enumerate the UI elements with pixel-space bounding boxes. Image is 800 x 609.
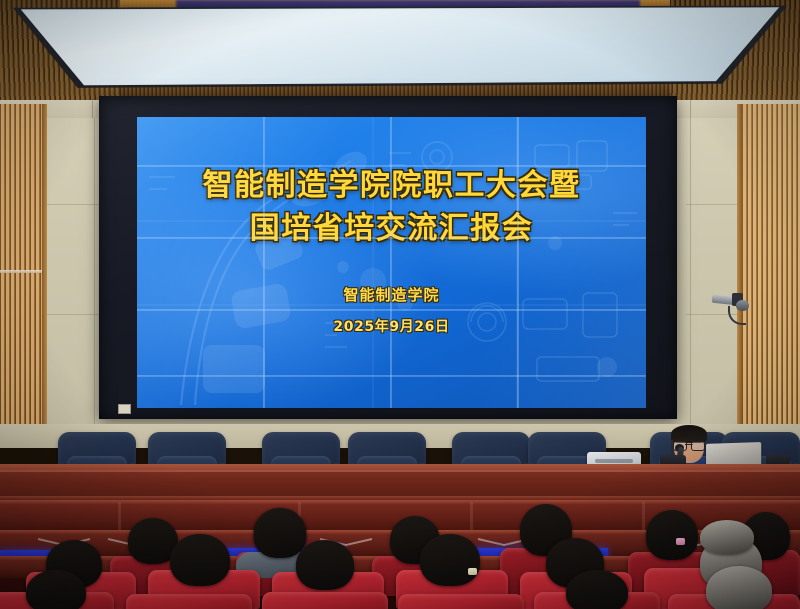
wall-camera-icon [712,290,748,324]
video-wall-display[interactable]: 智能制造学院院职工大会暨 国培省培交流汇报会 智能制造学院 2025年9月26日 [137,117,646,408]
ceiling-light-panel [0,0,800,104]
audience-head [170,534,230,586]
audience-seat[interactable] [262,592,388,609]
audience-head [706,566,772,609]
camera-cable [728,306,746,325]
wood-trim-right [737,104,742,434]
audience-seat[interactable] [398,594,524,609]
audience-head [700,520,754,554]
wall-rail-left [0,270,42,273]
screenshot-root: 智能制造学院院职工大会暨 国培省培交流汇报会 智能制造学院 2025年9月26日 [0,0,800,609]
slide-content: 智能制造学院院职工大会暨 国培省培交流汇报会 智能制造学院 2025年9月26日 [137,117,646,408]
slide-title-line-1: 智能制造学院院职工大会暨 [203,165,581,208]
wall-seam [40,204,100,205]
wood-slat-panel-left [0,104,42,434]
ceiling-light-assembly [0,0,800,104]
slide-title-line-2: 国培省培交流汇报会 [250,208,534,251]
wall-seam [40,314,100,315]
screen-label-plate [118,404,131,414]
audience-head [26,570,86,609]
audience-head [254,508,306,558]
slide-organization: 智能制造学院 [343,284,439,305]
wood-trim-left [42,104,47,434]
desk-rib [642,502,645,532]
hair-clip [676,538,685,545]
desk-rib [470,502,473,532]
audience-area [0,500,800,609]
audience-seat[interactable] [126,594,252,609]
wall-seam [690,118,691,428]
desk-rib [118,502,121,532]
audience-head [646,510,698,560]
slide-date: 2025年9月26日 [333,316,449,336]
audience-head [296,540,354,590]
wall-seam [94,118,95,428]
document-stack-band [595,459,633,463]
audience-head [420,534,480,586]
wood-slat-panel-right [742,104,800,434]
ceiling [0,0,800,104]
audience-head [566,570,628,609]
wall-seam [686,204,744,205]
hair-clip [468,568,477,575]
